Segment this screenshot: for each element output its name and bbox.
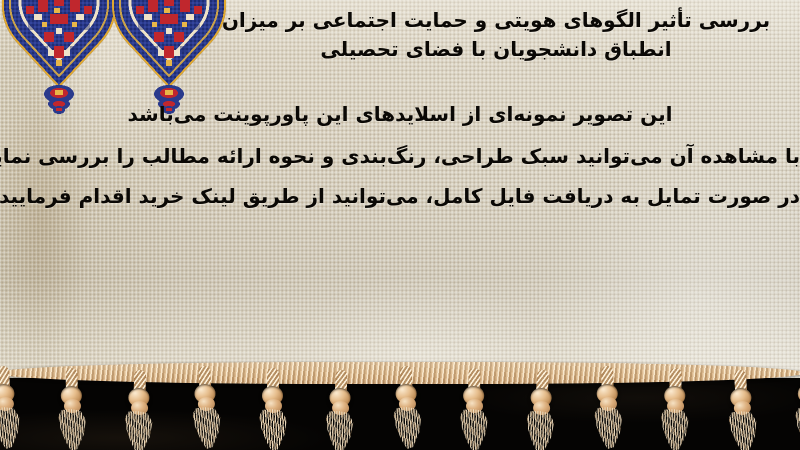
fringe-tassel-skirt (659, 409, 690, 450)
fringe-tassel-skirt (123, 411, 154, 450)
fringe-tassel (522, 369, 560, 450)
fringe-tassel (321, 369, 358, 450)
slide-title: بررسی تأثیر الگوهای هویتی و حمایت اجتماع… (206, 6, 786, 64)
fringe-tassel-skirt (57, 409, 87, 450)
fringe-tassel-skirt (459, 409, 489, 450)
fringe-tassel (0, 365, 24, 447)
fringe-tassel-skirt (258, 409, 288, 450)
fringe-tassel-skirt (0, 406, 22, 450)
fringe-tassel (590, 366, 626, 447)
fringe-tassel (389, 365, 425, 446)
fringe-tassel-skirt (524, 410, 556, 450)
fringe-tassel-skirt (727, 410, 759, 450)
fringe-tassel (121, 369, 157, 450)
slide-title-line-2: انطباق دانشجویان با فضای تحصیلی (206, 35, 786, 64)
fringe-tassel (792, 366, 800, 446)
slide-body-text: این تصویر نمونه‌ای از اسلایدهای این پاور… (0, 104, 800, 206)
fringe-tassel (723, 369, 761, 450)
fringe-tassel-skirt (191, 406, 223, 449)
fringe-tassel-skirt (593, 407, 624, 450)
presentation-slide: بررسی تأثیر الگوهای هویتی و حمایت اجتماع… (0, 0, 800, 450)
fringe-tassel-skirt (794, 407, 800, 449)
carpet-tassel-fringe-icon (0, 356, 800, 450)
slide-title-line-1: بررسی تأثیر الگوهای هویتی و حمایت اجتماع… (206, 6, 786, 35)
fringe-tassel-skirt (392, 407, 423, 450)
fringe-tassel-skirt (323, 410, 355, 450)
fringe-tassel (55, 368, 90, 448)
fringe-tassel (457, 368, 492, 448)
fringe-tassel (657, 368, 693, 449)
body-line-2: با مشاهده آن می‌توانید سبک طراحی، رنگ‌بن… (0, 146, 800, 166)
body-line-1: این تصویر نمونه‌ای از اسلایدهای این پاور… (0, 104, 800, 124)
fringe-tassel (187, 365, 224, 446)
body-line-3: در صورت تمایل به دریافت فایل کامل، می‌تو… (0, 186, 800, 206)
fringe-tassel (256, 368, 290, 448)
